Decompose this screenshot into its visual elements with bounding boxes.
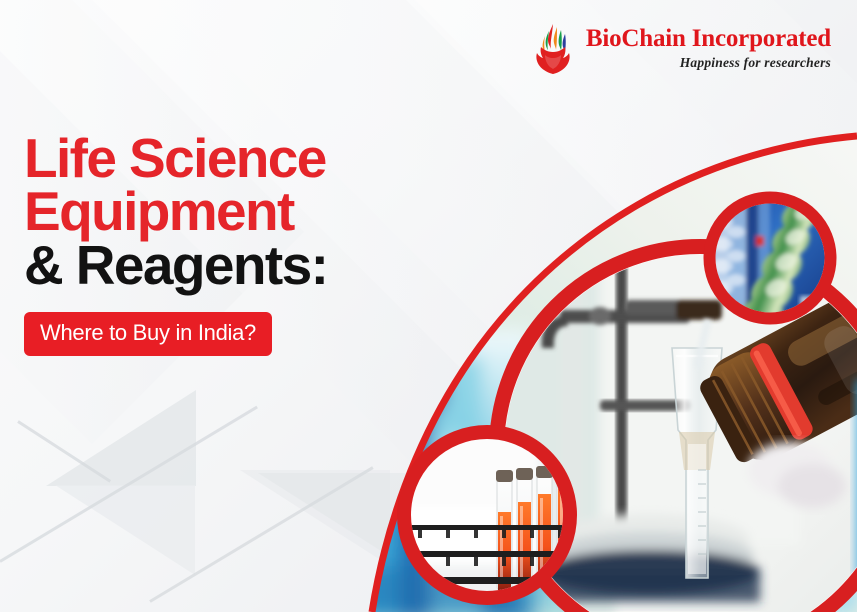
small-circle-top-red-ring (710, 198, 831, 319)
decorative-outer-arc (372, 136, 857, 612)
background-triangle (240, 470, 390, 566)
main-circle-white-ring (501, 251, 857, 612)
small-circle-top-photo (710, 194, 830, 341)
logo-company-name: BioChain Incorporated (586, 26, 831, 51)
flame-hands-logo-icon (530, 22, 576, 74)
small-circle-bottom-photo (400, 433, 580, 603)
background-triangle (55, 485, 195, 575)
headline-line-3: & Reagents: (24, 239, 327, 291)
graduated-cylinder (672, 348, 722, 578)
small-circle-top-white-ring (713, 201, 827, 315)
test-tubes (496, 464, 573, 590)
background-slash (149, 466, 373, 602)
tube-rack (400, 525, 580, 584)
background-slash (17, 420, 111, 482)
headline-line-2: Equipment (24, 185, 327, 237)
main-circle-photo (495, 245, 857, 612)
main-circle-red-ring (497, 247, 857, 612)
status-badge: Where to Buy in India? (24, 312, 272, 356)
marketing-banner: BioChain Incorporated Happiness for rese… (0, 0, 857, 612)
reagent-bottle (692, 281, 857, 474)
brand-logo[interactable]: BioChain Incorporated Happiness for rese… (530, 22, 831, 74)
small-circle-bottom-white-ring (408, 436, 566, 594)
background-pattern (0, 0, 857, 612)
arc-backdrop-region (300, 110, 857, 612)
headline-line-1: Life Science (24, 132, 327, 184)
green-caps (734, 194, 824, 341)
small-circle-bottom-red-ring (404, 432, 570, 598)
background-slash (0, 406, 258, 563)
logo-tagline: Happiness for researchers (680, 56, 831, 70)
lab-photo-composition (0, 0, 857, 612)
background-band (380, 0, 857, 610)
background-triangle (258, 473, 408, 568)
page-title: Life Science Equipment & Reagents: (24, 132, 327, 291)
background-triangle (46, 390, 196, 486)
